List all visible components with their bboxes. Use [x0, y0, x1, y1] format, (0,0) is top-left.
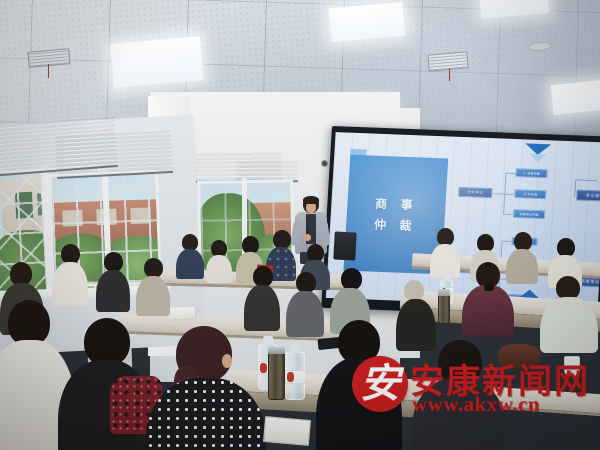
audience-person	[52, 244, 88, 304]
window-blind	[55, 129, 173, 179]
notebook	[166, 305, 197, 321]
vent-stem	[449, 68, 450, 81]
tumbler-lid	[438, 289, 450, 296]
person-body	[540, 297, 598, 353]
person-body	[136, 276, 170, 316]
person-head	[341, 268, 362, 290]
notebook	[263, 416, 311, 446]
watermark-url: www.akxw.cn	[412, 392, 540, 417]
person-hair-tie	[484, 284, 494, 291]
tea-tumbler	[268, 352, 285, 400]
person-head	[253, 266, 273, 287]
photo-scene: 商 事 仲 裁 涉外争议 仁 商事仲裁 涉 外仲裁 商事争议仲裁 国内争议	[0, 0, 600, 450]
watermark-logo-glyph: 安	[352, 356, 408, 412]
person-head	[296, 272, 316, 293]
person-body-polkadot	[146, 378, 266, 450]
audience-person	[96, 252, 130, 310]
audience-person	[430, 228, 460, 276]
tea-tumbler	[438, 294, 450, 324]
person-head	[104, 252, 123, 272]
tumbler-lid	[268, 347, 285, 354]
ceiling-camera-icon	[321, 160, 328, 167]
vent-stem	[48, 64, 49, 78]
audience-person	[58, 318, 154, 450]
person-body	[176, 249, 204, 279]
audience-person	[244, 266, 280, 328]
person-ear	[222, 354, 232, 368]
bottle-cap	[290, 344, 300, 353]
audience-person	[146, 326, 266, 450]
person-head	[84, 318, 130, 366]
person-body-maroon	[462, 285, 514, 337]
person-head	[61, 244, 80, 264]
ceiling-light-panel	[329, 2, 406, 42]
audience-person	[206, 240, 232, 282]
air-vent	[427, 51, 468, 71]
audience-person	[176, 234, 204, 278]
watermark: 安 安康新闻网 www.akxw.cn	[352, 352, 598, 418]
ceiling-light-panel	[551, 79, 600, 115]
water-bottle	[285, 344, 305, 400]
audience-person	[540, 276, 598, 352]
person-head	[144, 258, 163, 278]
presenter-hand	[304, 234, 311, 241]
bottle-label-accent	[287, 372, 294, 382]
person-body	[96, 270, 130, 312]
person-body	[244, 285, 280, 331]
presenter-hair	[303, 196, 319, 204]
ceiling-light-panel	[110, 36, 203, 88]
audience-person	[136, 258, 170, 314]
audience-person	[462, 262, 514, 336]
wall-speaker	[333, 231, 356, 260]
person-head	[404, 280, 424, 301]
person-body	[206, 255, 232, 283]
